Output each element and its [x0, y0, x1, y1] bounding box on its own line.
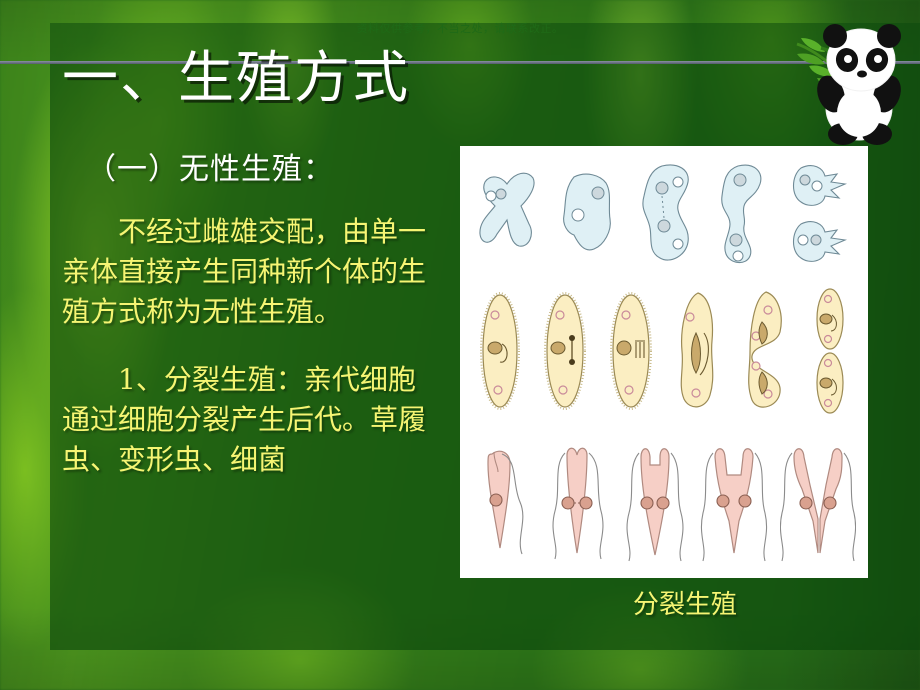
- presentation-slide: 资料仅供参考，不当之处，请联系改正。 一、生殖方式 （一）无性生殖： 不经过雌雄…: [0, 0, 920, 690]
- euglena-stage-5: [780, 441, 856, 565]
- paramecium-stage-5: [742, 288, 790, 414]
- figure-row-amoeba: [460, 152, 868, 276]
- paramecium-stage-4: [674, 289, 722, 413]
- paramecium-stage-2: [542, 290, 588, 412]
- panda-mascot: [795, 8, 920, 148]
- paragraph-definition: 不经过雌雄交配，由单一亲体直接产生同种新个体的生殖方式称为无性生殖。: [62, 212, 442, 332]
- amoeba-stage-5-pair: [787, 162, 851, 266]
- amoeba-stage-3: [638, 162, 694, 266]
- section-heading: （一）无性生殖：: [62, 148, 442, 192]
- euglena-stage-2: [547, 441, 611, 565]
- figure-caption: 分裂生殖: [560, 588, 810, 622]
- euglena-stage-3: [623, 441, 687, 565]
- paramecium-stage-6-pair: [810, 287, 850, 415]
- amoeba-stage-4: [716, 162, 766, 266]
- euglena-stage-1: [472, 442, 536, 564]
- disclaimer-text: 资料仅供参考，不当之处，请联系改正。: [0, 22, 920, 36]
- text-column: （一）无性生殖： 不经过雌雄交配，由单一亲体直接产生同种新个体的生殖方式称为无性…: [62, 148, 442, 480]
- page-title: 一、生殖方式: [62, 44, 410, 114]
- panda-body: [812, 24, 905, 145]
- figure-image-panel: [460, 146, 868, 578]
- amoeba-stage-1: [477, 168, 539, 260]
- figure-row-euglena: [460, 438, 868, 568]
- paramecium-stage-3: [608, 290, 654, 412]
- figure-row-paramecium: [460, 286, 868, 416]
- amoeba-stage-2: [560, 169, 616, 259]
- euglena-stage-4: [699, 441, 769, 565]
- paramecium-stage-1: [478, 290, 522, 412]
- paragraph-fission: 1、分裂生殖：亲代细胞通过细胞分裂产生后代。草履虫、变形虫、细菌: [62, 360, 442, 480]
